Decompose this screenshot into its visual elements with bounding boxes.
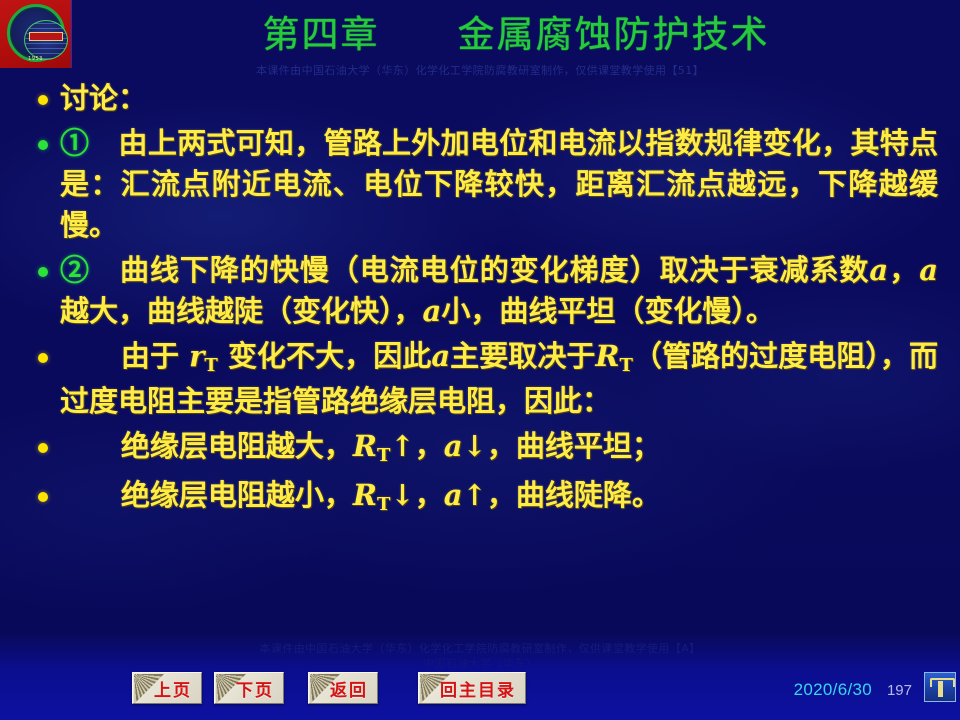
paragraph-text: 绝缘层电阻越小，RT↓，a↑，曲线陡降。 (60, 475, 938, 520)
slide-navigation-bar: 上页 下页 返回 回主目录 2020/6/30 197 (0, 662, 960, 720)
paragraph-text: 绝缘层电阻越大，RT↑，a↓，曲线平坦； (60, 426, 938, 471)
next-page-label: 下页 (236, 676, 274, 701)
bullet-paragraph: ② 曲线下降的快慢（电流电位的变化梯度）取决于衰减系数a，a越大，曲线越陡（变化… (26, 250, 938, 332)
main-menu-label: 回主目录 (440, 676, 516, 701)
bullet-paragraph: 绝缘层电阻越小，RT↓，a↑，曲线陡降。 (26, 475, 938, 520)
slide-canvas: 本课件由中国石油大学（华东）化学化工学院防腐教研室制作，仅供课堂教学使用【51】… (0, 0, 960, 720)
bullet-paragraph: 由于 rT 变化不大，因此a主要取决于RT（管路的过度电阻），而过度电阻主要是指… (26, 336, 938, 422)
seal-ring-icon (7, 4, 65, 62)
back-button[interactable]: 返回 (308, 672, 378, 704)
bullet-marker-icon (26, 78, 60, 116)
bullet-paragraph: ① 由上两式可知，管路上外加电位和电流以指数规律变化，其特点是：汇流点附近电流、… (26, 123, 938, 246)
slide-body: 讨论： ① 由上两式可知，管路上外加电位和电流以指数规律变化，其特点是：汇流点附… (0, 78, 960, 638)
main-menu-button[interactable]: 回主目录 (418, 672, 526, 704)
paragraph-text: ① 由上两式可知，管路上外加电位和电流以指数规律变化，其特点是：汇流点附近电流、… (60, 123, 938, 246)
paragraph-text: 讨论： (60, 78, 938, 119)
previous-page-button[interactable]: 上页 (132, 672, 202, 704)
seal-nameplate (29, 32, 63, 41)
watermark-bottom: 本课件由中国石油大学（华东）化学化工学院防腐教研室制作，仅供课堂教学使用【A】 (0, 640, 960, 656)
paragraph-text: ② 曲线下降的快慢（电流电位的变化梯度）取决于衰减系数a，a越大，曲线越陡（变化… (60, 250, 938, 332)
slide-date: 2020/6/30 (794, 680, 872, 700)
bullet-marker-icon (26, 475, 60, 513)
paragraph-text: 由于 rT 变化不大，因此a主要取决于RT（管路的过度电阻），而过度电阻主要是指… (60, 336, 938, 422)
slide-page-number: 197 (887, 682, 912, 699)
watermark-top: 本课件由中国石油大学（华东）化学化工学院防腐教研室制作，仅供课堂教学使用【51】 (0, 62, 960, 78)
bullet-marker-icon (26, 123, 60, 161)
page-title: 第四章 金属腐蚀防护技术 (72, 0, 960, 62)
bullet-marker-icon (26, 250, 60, 288)
previous-page-label: 上页 (154, 676, 192, 701)
bullet-paragraph: 讨论： (26, 78, 938, 119)
bullet-marker-icon (26, 336, 60, 374)
next-page-button[interactable]: 下页 (214, 672, 284, 704)
presentation-icon (924, 672, 956, 702)
bullet-paragraph: 绝缘层电阻越大，RT↑，a↓，曲线平坦； (26, 426, 938, 471)
back-label: 返回 (330, 676, 368, 701)
university-logo: 1953 (0, 0, 72, 68)
bullet-marker-icon (26, 426, 60, 464)
seal-year: 1953 (0, 56, 71, 62)
